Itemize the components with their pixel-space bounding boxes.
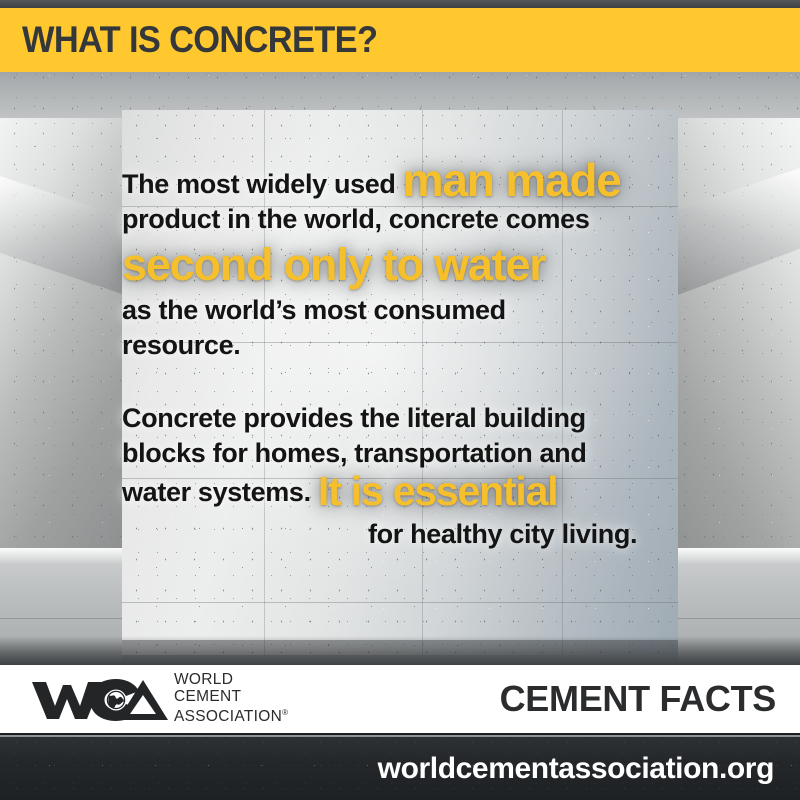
- logo-word-world: WORLD: [174, 672, 288, 689]
- footer-shadow: [0, 636, 800, 666]
- p2-highlight-it-is-essential: It is essential: [318, 468, 558, 514]
- wca-logo[interactable]: WORLD CEMENT ASSOCIATION®: [30, 672, 288, 726]
- paragraph-one-line-five: resource.: [122, 328, 722, 363]
- p1-highlight-man-made: man made: [403, 154, 621, 206]
- series-label: CEMENT FACTS: [500, 678, 776, 720]
- website-url[interactable]: worldcementassociation.org: [378, 752, 774, 786]
- top-dark-strip: [0, 0, 800, 8]
- logo-word-cement: CEMENT: [174, 689, 288, 706]
- paragraph-one-line-four: as the world’s most consumed: [122, 293, 722, 328]
- infographic-poster: WHAT IS CONCRETE? The most widely used m…: [0, 0, 800, 800]
- wca-monogram-icon: [30, 673, 170, 725]
- paragraph-one-line-two: product in the world, concrete comes: [122, 202, 722, 237]
- logo-word-association-line: ASSOCIATION®: [174, 705, 288, 726]
- paragraph-one: The most widely used man made product in…: [122, 158, 722, 363]
- paragraph-two-line-three: water systems. It is essential: [122, 471, 722, 511]
- footer-url-bar: worldcementassociation.org: [0, 737, 800, 800]
- p1-text-segment: The most widely used: [122, 169, 403, 199]
- body-copy: The most widely used man made product in…: [122, 158, 722, 550]
- logo-word-association: ASSOCIATION: [174, 708, 282, 725]
- paragraph-two-line-one: Concrete provides the literal building: [122, 401, 722, 436]
- paragraph-two-line-four: for healthy city living.: [368, 519, 722, 550]
- globe-icon: [107, 691, 124, 708]
- footer-brand-bar: WORLD CEMENT ASSOCIATION® CEMENT FACTS: [0, 665, 800, 735]
- paragraph-two: Concrete provides the literal building b…: [122, 401, 722, 550]
- wca-logo-wordmark: WORLD CEMENT ASSOCIATION®: [174, 672, 288, 726]
- paragraph-one-line-one: The most widely used man made: [122, 158, 722, 202]
- paragraph-two-line-two: blocks for homes, transportation and: [122, 436, 722, 471]
- left-bay-texture: [0, 118, 128, 548]
- left-recessed-bay: [0, 118, 128, 548]
- page-title: WHAT IS CONCRETE?: [22, 19, 377, 61]
- p2-text-segment: water systems.: [122, 477, 318, 507]
- p1-highlight-second-only-to-water: second only to water: [122, 237, 722, 293]
- header-banner: WHAT IS CONCRETE?: [0, 8, 800, 72]
- registered-trademark-icon: ®: [282, 708, 288, 717]
